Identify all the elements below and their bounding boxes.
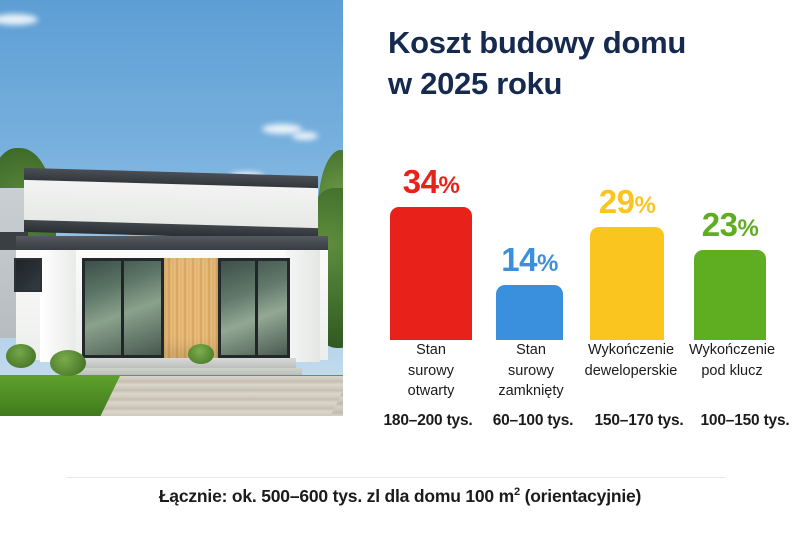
category-label-line: pod klucz xyxy=(701,363,762,379)
category-label-line: zamknięty xyxy=(498,383,563,399)
wall-pillar xyxy=(286,250,320,362)
bar-column: 14% xyxy=(496,285,563,340)
category-label-line: otwarty xyxy=(408,383,455,399)
price-range-row: 180–200 tys. 60–100 tys. 150–170 tys. 10… xyxy=(343,412,800,438)
cloud-shape xyxy=(292,132,318,140)
bar-percent-value: 23 xyxy=(702,206,738,243)
wood-cladding-panel xyxy=(164,258,218,358)
small-window xyxy=(14,258,42,292)
bar-percent-label: 34% xyxy=(403,163,460,201)
content-panel: Koszt budowy domu w 2025 roku 34% 14% 29… xyxy=(343,0,800,465)
paved-path xyxy=(100,376,343,416)
footer-divider xyxy=(66,477,726,478)
entry-step xyxy=(66,358,296,368)
page-title-line-1: Koszt budowy domu xyxy=(388,25,686,60)
category-label: Wykończenie pod klucz xyxy=(679,340,785,381)
glass-door-right xyxy=(218,258,290,358)
summary-text-after: (orientacyjnie) xyxy=(520,486,641,506)
percent-symbol: % xyxy=(537,250,558,277)
percent-symbol: % xyxy=(634,192,655,219)
price-range: 100–150 tys. xyxy=(687,412,800,430)
category-label-line: Wykończenie xyxy=(588,342,674,358)
price-range: 180–200 tys. xyxy=(363,412,493,430)
bar-rect[interactable] xyxy=(694,250,766,340)
bar-percent-label: 29% xyxy=(599,183,656,221)
bush-shape xyxy=(188,344,214,364)
category-label-line: Stan xyxy=(516,342,546,358)
category-labels: Stan surowy otwarty Stan surowy zamknięt… xyxy=(343,340,800,408)
bar-rect[interactable] xyxy=(390,207,472,340)
bar-column: 34% xyxy=(390,207,472,340)
percent-symbol: % xyxy=(438,172,459,199)
category-label: Stan surowy zamknięty xyxy=(479,340,583,402)
price-range: 150–170 tys. xyxy=(583,412,695,430)
window-mullion xyxy=(121,261,124,355)
bar-column: 23% xyxy=(694,250,766,340)
summary-footer: Łącznie: ok. 500–600 tys. zl dla domu 10… xyxy=(0,486,800,507)
category-label-line: surowy xyxy=(508,363,554,379)
bush-shape xyxy=(50,350,86,376)
percent-symbol: % xyxy=(737,215,758,242)
bar-chart: 34% 14% 29% 23% xyxy=(343,130,800,340)
category-label: Stan surowy otwarty xyxy=(373,340,489,402)
infographic-canvas: Koszt budowy domu w 2025 roku 34% 14% 29… xyxy=(0,0,800,533)
bar-rect[interactable] xyxy=(496,285,563,340)
category-label-line: Wykończenie xyxy=(689,342,775,358)
bar-rect[interactable] xyxy=(590,227,664,340)
bar-percent-value: 14 xyxy=(501,241,537,278)
category-label-line: deweloperskie xyxy=(585,363,678,379)
page-title: Koszt budowy domu w 2025 roku xyxy=(388,22,798,104)
category-label-line: Stan xyxy=(416,342,446,358)
window-mullion xyxy=(255,261,258,355)
page-title-line-2: w 2025 roku xyxy=(388,66,562,101)
glass-door-left xyxy=(82,258,164,358)
category-label-line: surowy xyxy=(408,363,454,379)
bar-percent-label: 23% xyxy=(702,206,759,244)
wall-pillar xyxy=(40,250,76,362)
bar-percent-value: 34 xyxy=(403,163,439,200)
bar-percent-label: 14% xyxy=(501,241,558,279)
bush-shape xyxy=(6,344,36,368)
house-photo xyxy=(0,0,343,416)
category-label: Wykończenie deweloperskie xyxy=(575,340,687,381)
bar-percent-value: 29 xyxy=(599,183,635,220)
price-range: 60–100 tys. xyxy=(479,412,587,430)
summary-text-before: Łącznie: ok. 500–600 tys. zl dla domu 10… xyxy=(159,486,514,506)
bar-column: 29% xyxy=(590,227,664,340)
